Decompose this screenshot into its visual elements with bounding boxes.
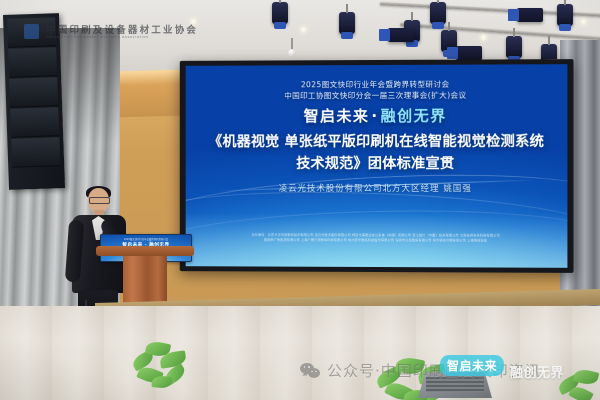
ceiling-downlight-icon [580,18,587,25]
stage-fresnel-light-icon [517,8,543,22]
stage-fresnel-light-icon [388,28,414,42]
slogan-part-a: 智启未来 [304,107,370,125]
overlay-badge: 智启未来 [440,355,504,376]
podium-panel-header: 2025图文快印行业年会暨跨界转型研讨会 [101,237,191,241]
stage-floor [0,306,600,400]
slogan-part-b: 融创无界 [381,107,447,125]
ceiling-downlight-icon [480,34,487,41]
screen-presenter: 凌云光技术股份有限公司北方大区经理 姚国强 [186,182,568,194]
led-screen-content: 2025图文快印行业年会暨跨界转型研讨会 中国印工协图文快印分会一届三次理事会(… [186,64,568,268]
stage-fresnel-light-icon [456,46,482,60]
potted-plant [126,338,196,390]
conference-photo: 中国印刷及设备器材工业协会 China Print Equipment Indu… [0,0,600,400]
stage-light-icon [557,4,573,26]
screen-header-line2: 中国印工协图文快印分会一届三次理事会(扩大)会议 [186,89,568,101]
podium-top [96,246,194,256]
screen-title-line1: 《机器视觉 单张纸平版印刷机在线智能视觉检测系统 [197,131,555,153]
overlay-badge-secondary: 融创无界 [510,362,564,381]
ceiling-camera-icon [288,38,295,58]
slogan-dot: · [371,107,378,125]
glasses-icon [89,197,110,204]
wechat-icon [300,363,320,379]
stage-light-icon [272,2,288,24]
watermark: 公众号·中国印刷图文快印资讯 [300,360,541,381]
association-wall-sign: 中国印刷及设备器材工业协会 China Print Equipment Indu… [24,22,180,48]
watermark-text: 公众号·中国印刷图文快印资讯 [327,360,541,381]
screen-header: 2025图文快印行业年会暨跨界转型研讨会 中国印工协图文快印分会一届三次理事会(… [186,78,568,101]
screen-slogan: 智启未来·融创无界 [186,104,568,126]
screen-title-line2: 技术规范》团体标准宣贯 [197,153,555,175]
stage-light-icon [506,36,522,58]
stage-light-icon [339,12,355,34]
screen-title: 《机器视觉 单张纸平版印刷机在线智能视觉检测系统 技术规范》团体标准宣贯 [197,131,555,175]
association-sign-cn: 中国印刷及设备器材工业协会 [46,22,198,36]
stage-light-icon [430,2,446,24]
led-screen: 2025图文快印行业年会暨跨界转型研讨会 中国印工协图文快印分会一届三次理事会(… [180,59,574,273]
screen-sponsor-list: 主办单位：北京方正印捷数码技术有限公司 凌云光技术股份有限公司 柯尼卡美能达办公… [203,233,549,244]
association-sign-en: China Print Equipment Industry Associati… [46,35,149,39]
association-logo-icon [24,24,39,39]
ceiling-downlight-icon [300,26,307,33]
